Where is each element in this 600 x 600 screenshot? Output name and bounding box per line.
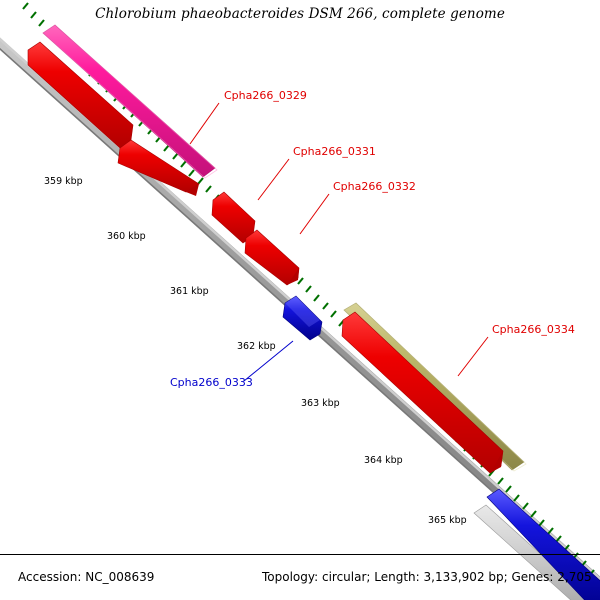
ruler-label-360: 360 kbp	[107, 231, 146, 242]
ruler-label-362: 362 kbp	[237, 341, 276, 352]
leader-cpha266-0329	[190, 103, 219, 144]
leader-cpha266-0331	[258, 159, 289, 200]
gene-label-cpha266-0331[interactable]: Cpha266_0331	[293, 145, 376, 158]
gene-label-cpha266-0329[interactable]: Cpha266_0329	[224, 89, 307, 102]
gene-label-cpha266-0333[interactable]: Cpha266_0333	[170, 376, 253, 389]
footer-divider	[0, 554, 600, 555]
leader-cpha266-0334	[458, 337, 488, 376]
genome-map-diagram: Cpha266_0329 Cpha266_0331 Cpha266_0332 C…	[0, 0, 600, 600]
gene-feature-cpha266-0333[interactable]	[283, 296, 322, 340]
genome-stats-text: Topology: circular; Length: 3,133,902 bp…	[262, 570, 592, 584]
ruler-label-364: 364 kbp	[364, 455, 403, 466]
ruler-label-361: 361 kbp	[170, 286, 209, 297]
gene-arrow-red[interactable]	[342, 312, 503, 473]
ruler-label-365: 365 kbp	[428, 515, 467, 526]
gene-label-cpha266-0334[interactable]: Cpha266_0334	[492, 323, 575, 336]
gene-label-cpha266-0332[interactable]: Cpha266_0332	[333, 180, 416, 193]
gene-feature-cpha266-0329[interactable]	[28, 25, 217, 196]
leader-cpha266-0332	[300, 194, 329, 234]
ruler-label-363: 363 kbp	[301, 398, 340, 409]
accession-text: Accession: NC_008639	[18, 570, 154, 584]
ruler-label-359: 359 kbp	[44, 176, 83, 187]
genome-viewer: Chlorobium phaeobacteroides DSM 266, com…	[0, 0, 600, 600]
